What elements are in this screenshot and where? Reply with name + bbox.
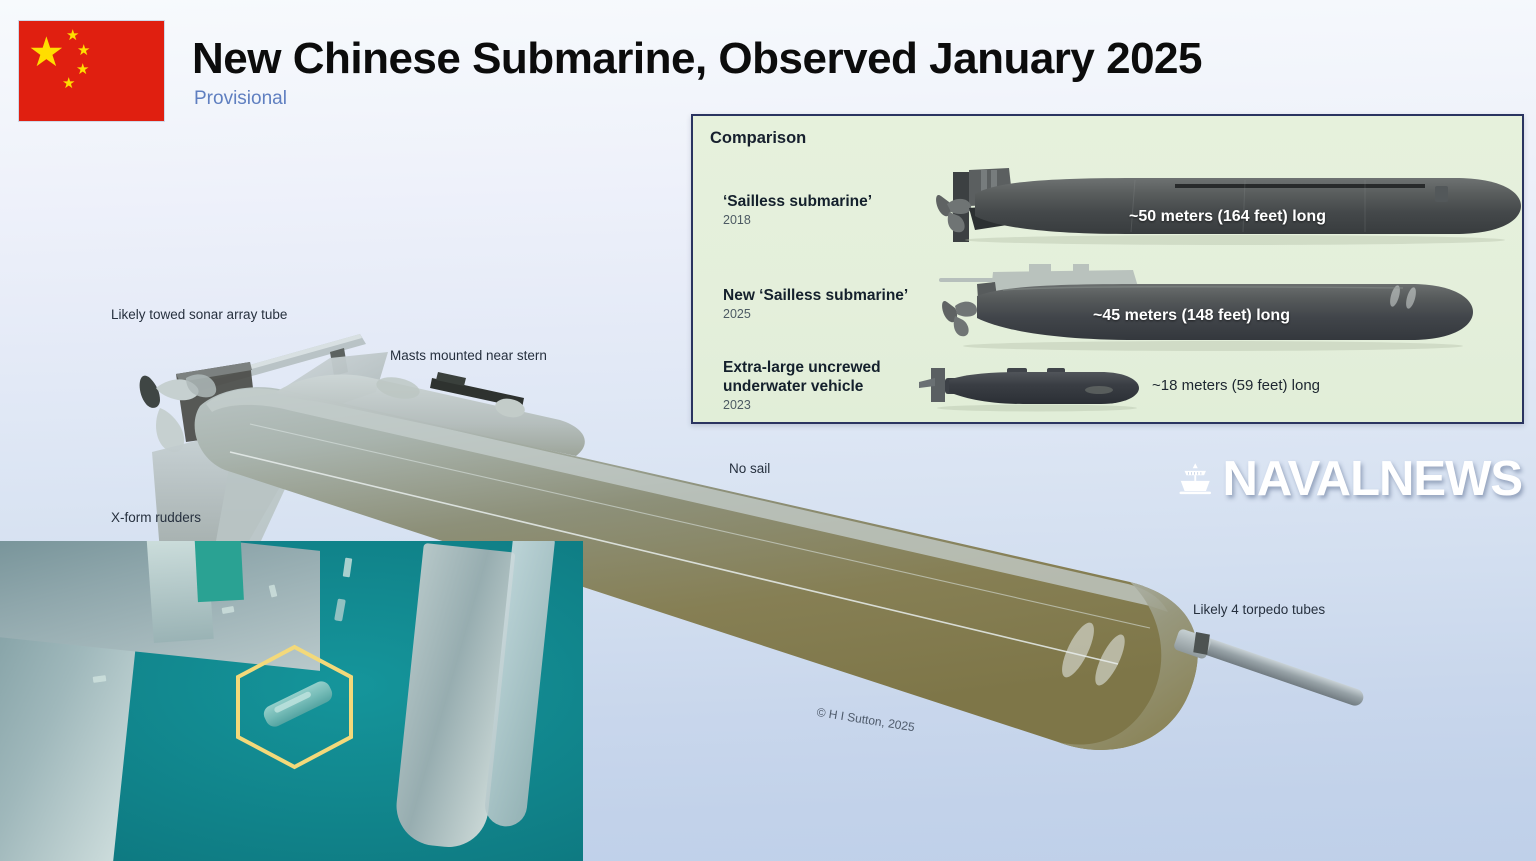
callout-masts: Masts mounted near stern xyxy=(390,348,547,363)
page-subtitle: Provisional xyxy=(194,88,287,110)
flag-star-2: ★ xyxy=(77,43,90,58)
china-flag-icon: ★ ★ ★ ★ ★ xyxy=(18,20,165,122)
copyright-notice: © H I Sutton, 2025 xyxy=(816,705,916,734)
comparison-xluuv-illustration xyxy=(917,360,1145,414)
flag-star-large: ★ xyxy=(28,32,65,73)
flag-star-4: ★ xyxy=(62,76,75,91)
propeller xyxy=(140,374,217,452)
comparison-row-2-label: New ‘Sailless submarine’ 2025 xyxy=(723,286,908,321)
comparison-row-2-length: ~45 meters (148 feet) long xyxy=(1093,307,1290,325)
comparison-row-3-name-line1: Extra-large uncrewed xyxy=(723,358,881,377)
hexagon-highlight xyxy=(232,644,357,770)
navalnews-wordmark: NAVALNEWS xyxy=(1223,455,1523,504)
comparison-panel: Comparison ‘Sailless submarine’ 2018 xyxy=(691,114,1524,424)
navalnews-logo[interactable]: NAVALNEWS xyxy=(1177,447,1522,511)
comparison-row-1-label: ‘Sailless submarine’ 2018 xyxy=(723,192,872,227)
infographic-root: ★ ★ ★ ★ ★ New Chinese Submarine, Observe… xyxy=(0,0,1536,861)
torpedo-tube xyxy=(1173,628,1366,708)
masts xyxy=(430,372,527,420)
comparison-title: Comparison xyxy=(710,129,806,148)
comparison-row-sailless-2018: ‘Sailless submarine’ 2018 xyxy=(693,164,1526,260)
callout-no-sail: No sail xyxy=(729,461,770,476)
bow-apertures xyxy=(1056,619,1131,689)
callout-torpedo-tubes: Likely 4 torpedo tubes xyxy=(1193,602,1325,617)
comparison-sub-2025-illustration xyxy=(933,258,1478,354)
comparison-row-3-label: Extra-large uncrewed underwater vehicle … xyxy=(723,358,881,412)
satellite-image-inset: Airbus DS satellite image, January 9, 20… xyxy=(0,541,583,861)
callout-x-form-rudders: X-form rudders xyxy=(111,510,201,525)
comparison-row-1-length: ~50 meters (164 feet) long xyxy=(1129,208,1326,226)
comparison-row-sailless-2025: New ‘Sailless submarine’ 2025 xyxy=(693,264,1526,350)
comparison-row-2-year: 2025 xyxy=(723,307,908,321)
page-title: New Chinese Submarine, Observed January … xyxy=(192,34,1202,84)
comparison-row-3-name-line2: underwater vehicle xyxy=(723,377,881,396)
flag-star-3: ★ xyxy=(76,62,89,77)
comparison-row-1-year: 2018 xyxy=(723,213,872,227)
flag-star-1: ★ xyxy=(66,28,79,43)
ship-icon xyxy=(1177,450,1214,508)
callout-towed-sonar-array: Likely towed sonar array tube xyxy=(111,307,287,322)
pier-2 xyxy=(194,541,244,602)
comparison-row-1-name: ‘Sailless submarine’ xyxy=(723,192,872,211)
comparison-row-3-length: ~18 meters (59 feet) long xyxy=(1152,377,1320,394)
comparison-row-3-year: 2023 xyxy=(723,398,881,412)
comparison-row-xluuv-2023: Extra-large uncrewed underwater vehicle … xyxy=(693,354,1526,422)
comparison-row-2-name: New ‘Sailless submarine’ xyxy=(723,286,908,305)
towed-sonar-array-tube xyxy=(182,334,366,416)
